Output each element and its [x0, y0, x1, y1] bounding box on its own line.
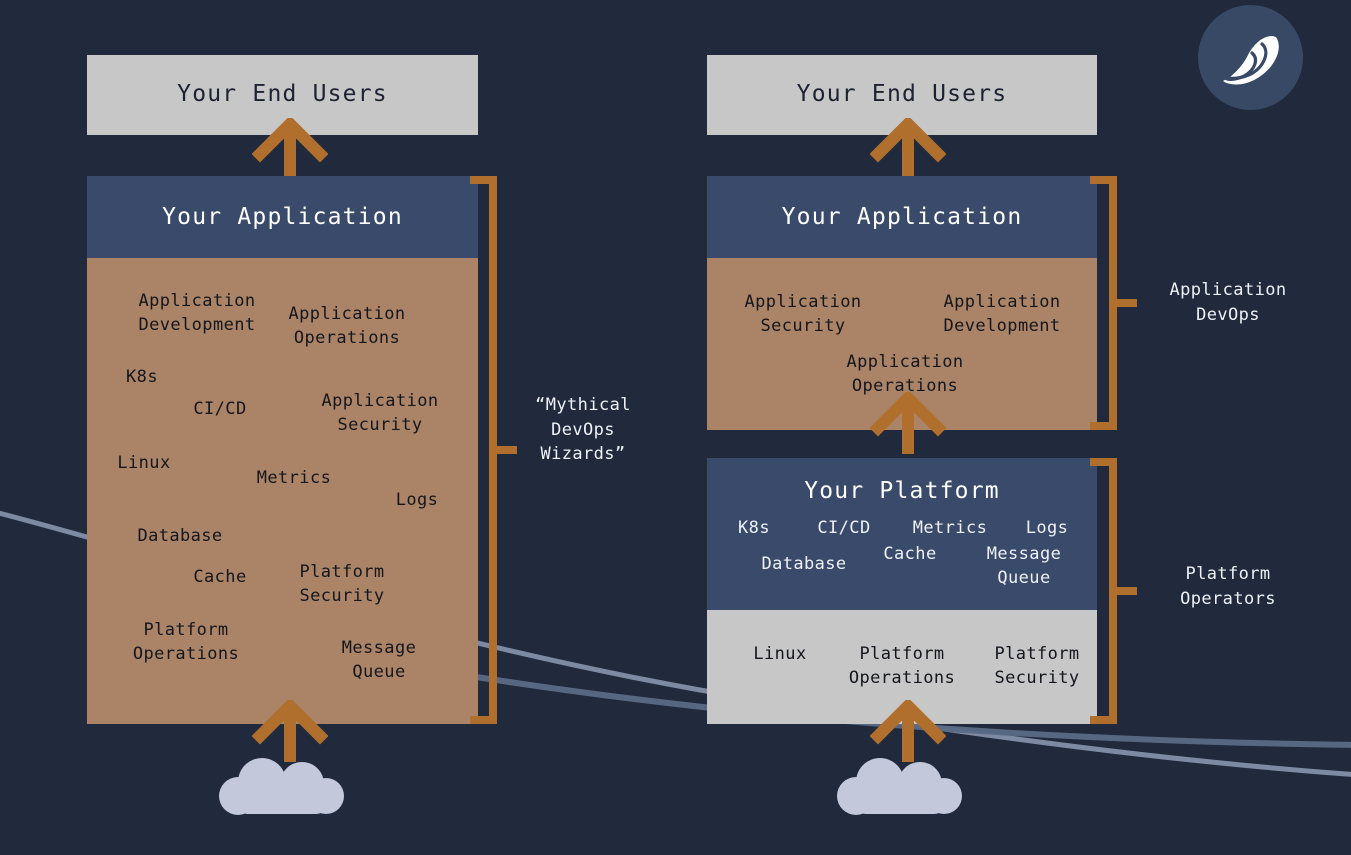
left-tag-application-development: Application Development	[122, 289, 272, 337]
right-tag-database: Database	[739, 552, 869, 576]
right-tag-application-development: Application Development	[922, 290, 1082, 338]
right-arrow-platform-to-app	[870, 392, 946, 454]
left-tag-linux: Linux	[99, 451, 189, 475]
right-tag-linux: Linux	[735, 642, 825, 666]
diagram-canvas: Your End Users Your Application Applicat…	[0, 0, 1351, 855]
left-cloud-icon	[218, 758, 346, 816]
right-tag-metrics: Metrics	[895, 516, 1005, 540]
right-tag-k8s: K8s	[719, 516, 789, 540]
left-your-application-label: Your Application	[87, 204, 478, 230]
right-bracket-application-devops	[1090, 176, 1117, 430]
left-tag-application-operations: Application Operations	[272, 302, 422, 350]
left-mixed-responsibilities-box: Application Development Application Oper…	[87, 258, 478, 724]
right-arrow-app-to-users	[870, 118, 946, 180]
right-your-platform-label: Your Platform	[707, 478, 1097, 504]
left-tag-application-security: Application Security	[305, 389, 455, 437]
mussel-shell-logo-icon	[1218, 27, 1284, 89]
left-your-application-box: Your Application	[87, 176, 478, 258]
right-bracket-label-platform-operators: Platform Operators	[1143, 562, 1313, 611]
right-your-application-label: Your Application	[707, 204, 1097, 230]
left-tag-ci-cd: CI/CD	[175, 397, 265, 421]
brand-logo	[1198, 5, 1303, 110]
right-tag-cache: Cache	[865, 542, 955, 566]
left-bracket-mythical-devops	[470, 176, 497, 724]
left-tag-database: Database	[115, 524, 245, 548]
right-cloud-icon	[836, 758, 964, 816]
right-bracket-label-application-devops: Application DevOps	[1143, 278, 1313, 327]
left-tag-cache: Cache	[175, 565, 265, 589]
left-tag-message-queue: Message Queue	[309, 636, 449, 684]
right-arrow-infra-to-platform	[870, 700, 946, 762]
left-arrow-app-to-users	[252, 118, 328, 180]
left-arrow-infra-to-stack	[252, 700, 328, 762]
right-tag-platform-operations: Platform Operations	[827, 642, 977, 690]
right-end-users-label: Your End Users	[707, 81, 1097, 107]
right-tag-application-operations: Application Operations	[825, 350, 985, 398]
right-tag-ci-cd: CI/CD	[799, 516, 889, 540]
right-your-platform-box: Your Platform K8s CI/CD Metrics Logs Dat…	[707, 458, 1097, 610]
right-your-application-box: Your Application	[707, 176, 1097, 258]
right-bracket-platform-operators	[1090, 458, 1117, 724]
right-tag-logs: Logs	[1007, 516, 1087, 540]
left-tag-platform-operations: Platform Operations	[111, 618, 261, 666]
left-bracket-label: “Mythical DevOps Wizards”	[518, 393, 648, 467]
left-tag-logs: Logs	[377, 488, 457, 512]
left-tag-metrics: Metrics	[239, 466, 349, 490]
left-tag-k8s: K8s	[107, 365, 177, 389]
left-end-users-label: Your End Users	[87, 81, 478, 107]
left-tag-platform-security: Platform Security	[267, 560, 417, 608]
right-tag-message-queue: Message Queue	[959, 542, 1089, 590]
right-tag-application-security: Application Security	[723, 290, 883, 338]
